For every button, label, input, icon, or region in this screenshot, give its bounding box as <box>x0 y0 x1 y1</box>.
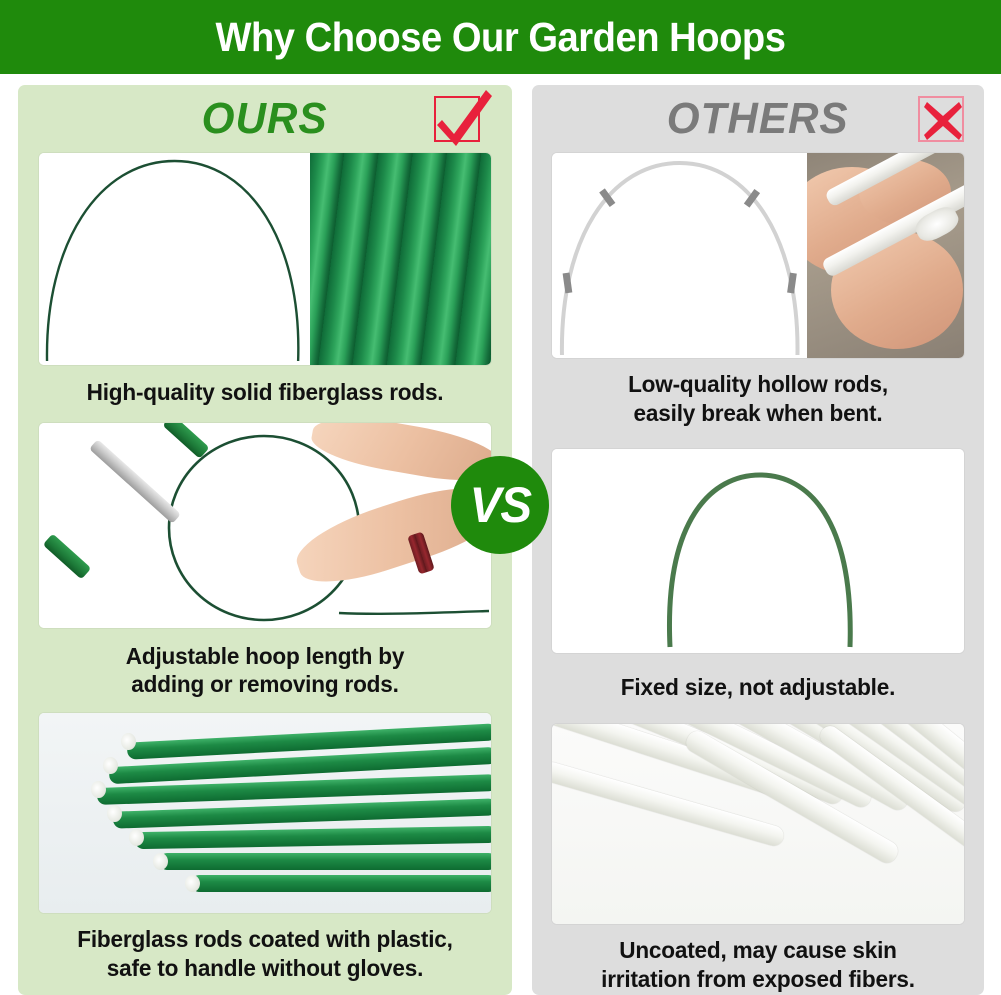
ours-caption-2: Adjustable hoop length by adding or remo… <box>35 642 496 699</box>
ours-image-1 <box>39 153 491 365</box>
others-panel: OTHERS <box>532 85 984 995</box>
page-title: Why Choose Our Garden Hoops <box>215 14 785 61</box>
others-row-3: Uncoated, may cause skin irritation from… <box>532 724 984 993</box>
others-row-2: Fixed size, not adjustable. <box>532 449 984 702</box>
green-rod-bundle-photo <box>39 713 491 913</box>
header-banner: Why Choose Our Garden Hoops <box>0 0 1001 74</box>
others-title: OTHERS <box>667 94 849 144</box>
ours-row-1: High-quality solid fiberglass rods. <box>18 153 512 407</box>
green-hoop-arch-photo <box>39 153 310 365</box>
green-rods-closeup-photo <box>310 153 491 365</box>
others-image-1 <box>552 153 964 358</box>
fixed-green-arch-photo <box>552 449 964 653</box>
others-caption-3: Uncoated, may cause skin irritation from… <box>547 936 969 993</box>
hands-bending-hoop-photo <box>39 423 491 628</box>
vs-badge: VS <box>451 456 549 554</box>
white-rod-pile-photo <box>552 724 964 924</box>
ours-caption-1: High-quality solid fiberglass rods. <box>35 378 496 407</box>
ours-title: OURS <box>202 94 328 144</box>
frayed-white-rod-hand-photo <box>807 153 964 358</box>
others-image-3 <box>552 724 964 924</box>
cross-mark-icon <box>918 96 964 142</box>
ours-image-2 <box>39 423 491 628</box>
ours-row-2: Adjustable hoop length by adding or remo… <box>18 423 512 699</box>
ours-panel-header: OURS <box>18 85 512 153</box>
others-row-1: Low-quality hollow rods, easily break wh… <box>532 153 984 427</box>
comparison-infographic: Why Choose Our Garden Hoops OURS <box>0 0 1001 995</box>
check-mark-icon <box>434 96 480 142</box>
others-image-2 <box>552 449 964 653</box>
white-hoop-arch-photo <box>552 153 807 358</box>
vs-label: VS <box>469 476 530 534</box>
ours-panel: OURS <box>18 85 512 995</box>
others-caption-2: Fixed size, not adjustable. <box>547 673 969 702</box>
ours-row-3: Fiberglass rods coated with plastic, saf… <box>18 713 512 982</box>
ours-image-3 <box>39 713 491 913</box>
others-panel-header: OTHERS <box>532 85 984 153</box>
others-caption-1: Low-quality hollow rods, easily break wh… <box>547 370 969 427</box>
ours-caption-3: Fiberglass rods coated with plastic, saf… <box>35 925 496 982</box>
